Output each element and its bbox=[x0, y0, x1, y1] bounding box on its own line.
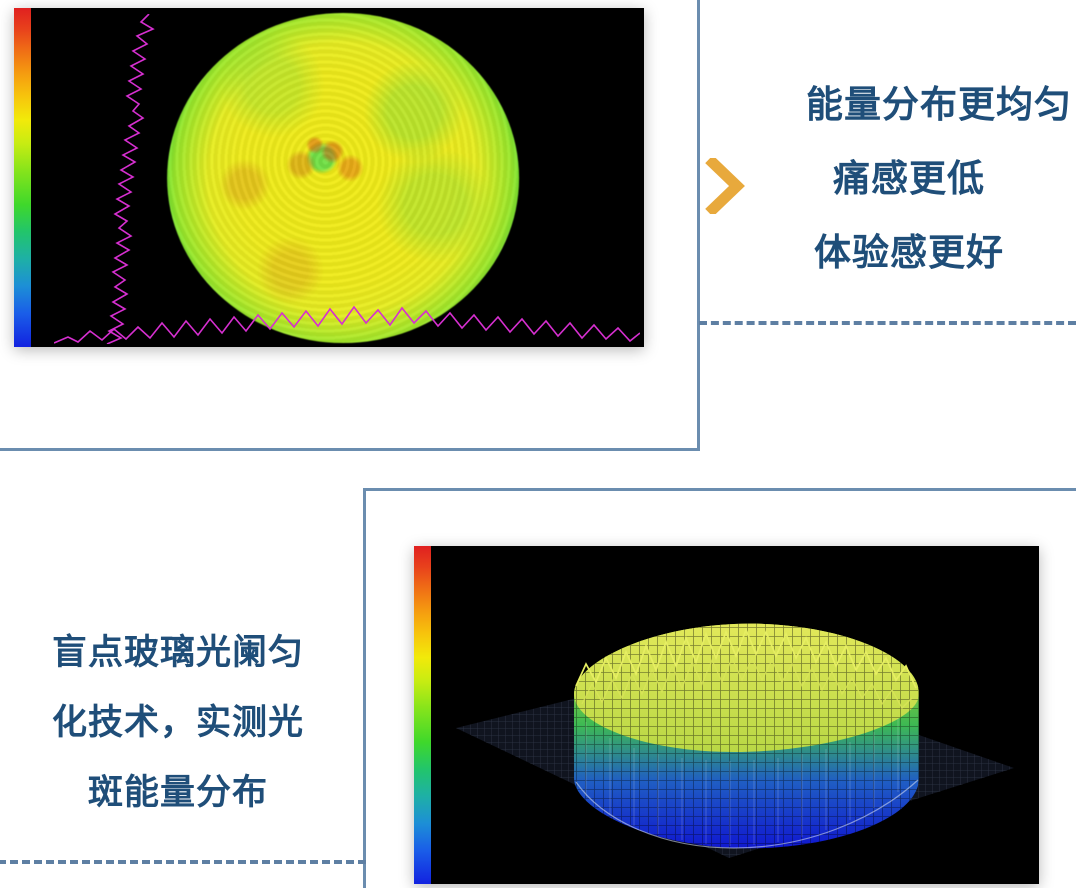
beam-profile-scene bbox=[14, 8, 644, 347]
benefit-line-3: 体验感更好 bbox=[742, 216, 1076, 290]
infographic-stage: 能量分布更均匀 痛感更低 体验感更好 bbox=[0, 0, 1076, 888]
caption-line-3: 斑能量分布 bbox=[8, 758, 348, 828]
benefit-line-2: 痛感更低 bbox=[742, 142, 1076, 216]
caption-line-1: 盲点玻璃光阑匀 bbox=[8, 618, 348, 688]
benefit-line-1: 能量分布更均匀 bbox=[742, 68, 1076, 142]
energy-3d-image bbox=[414, 546, 1039, 884]
benefit-callout-text: 能量分布更均匀 痛感更低 体验感更好 bbox=[742, 68, 1076, 290]
dashed-divider-left bbox=[0, 860, 366, 864]
caption-line-2: 化技术，实测光 bbox=[8, 688, 348, 758]
beam-profile-colorbar bbox=[14, 8, 31, 347]
technology-caption-text: 盲点玻璃光阑匀 化技术，实测光 斑能量分布 bbox=[8, 618, 348, 828]
beam-profile-image bbox=[14, 8, 644, 347]
dashed-divider-right bbox=[699, 321, 1076, 325]
3d-surface-plot bbox=[414, 546, 1039, 884]
horizontal-profile-trace bbox=[54, 293, 640, 345]
energy-3d-colorbar bbox=[414, 546, 431, 884]
